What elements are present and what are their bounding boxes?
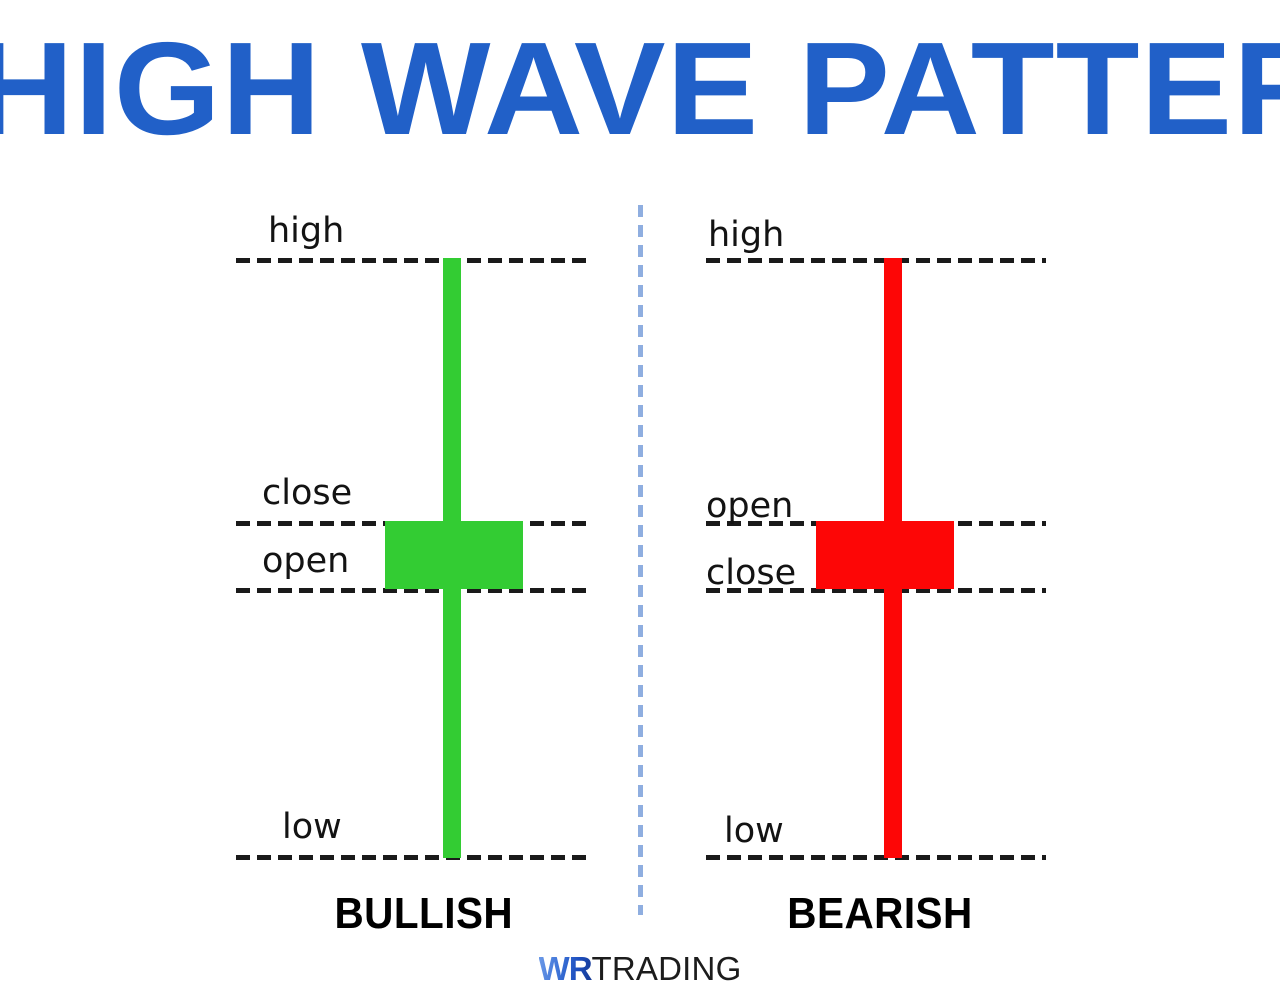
high-price-line [236, 258, 586, 263]
bearish-caption: BEARISH [687, 888, 1073, 940]
bullish-panel: high close open low BULLISH [200, 190, 620, 930]
candle-body [816, 521, 954, 589]
bearish-panel: high open close low BEARISH [670, 190, 1090, 930]
logo-word-trading: TRADING [592, 950, 742, 987]
label-high: high [708, 214, 784, 256]
page-title: HIGH WAVE PATTERN [0, 14, 1280, 164]
logo-mark-wr: WR [539, 950, 592, 987]
low-price-line [236, 855, 586, 860]
label-open: open [706, 485, 793, 527]
label-high: high [268, 210, 344, 252]
label-low: low [724, 810, 784, 852]
bullish-caption: BULLISH [217, 888, 603, 940]
label-low: low [282, 806, 342, 848]
low-price-line [706, 855, 1046, 860]
high-price-line [706, 258, 1046, 263]
label-close: close [262, 472, 352, 514]
label-close: close [706, 552, 796, 594]
footer-logo: WRTRADING [0, 950, 1280, 988]
panel-divider [638, 205, 643, 915]
label-open: open [262, 540, 349, 582]
candle-body [385, 521, 523, 589]
